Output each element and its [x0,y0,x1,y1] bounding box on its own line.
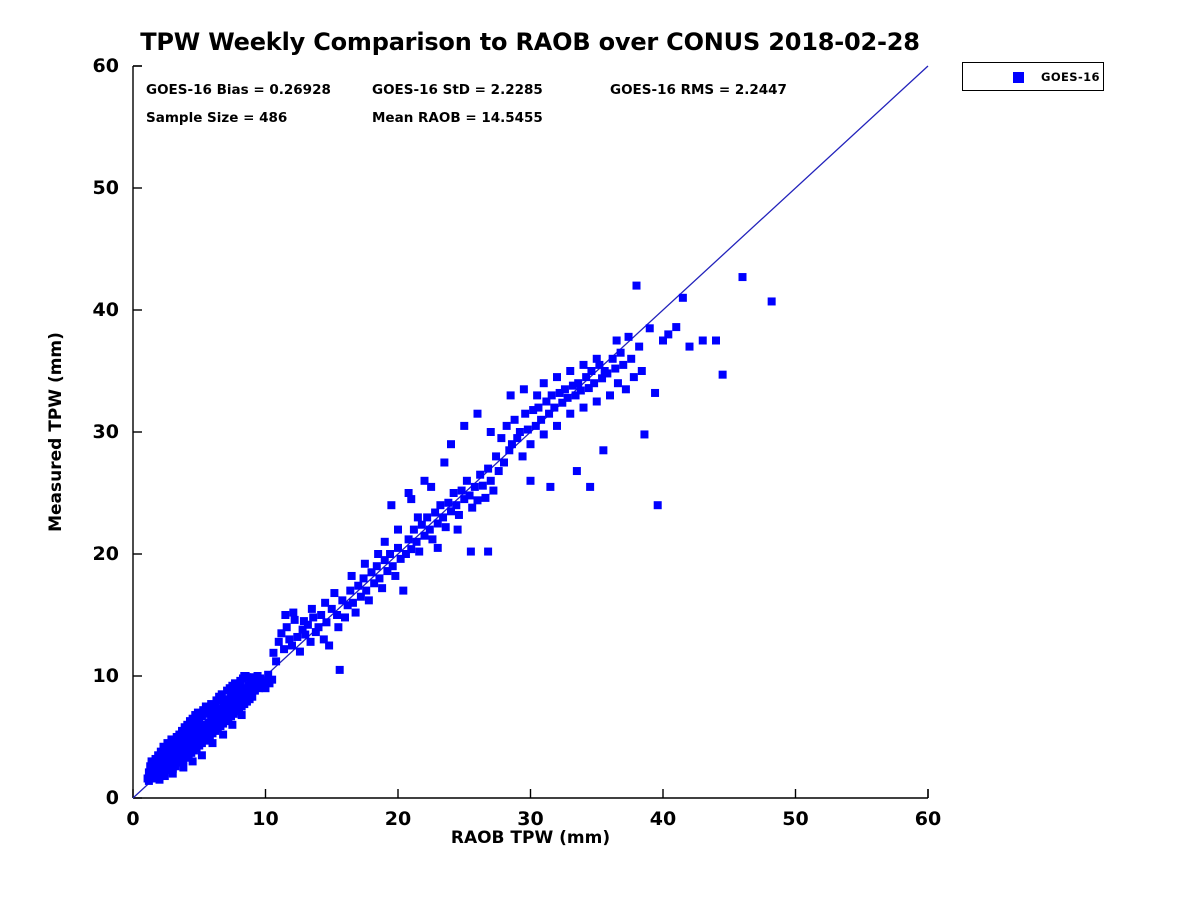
x-tick-label: 30 [517,808,543,830]
legend-marker-icon [1013,72,1024,83]
x-axis-label: RAOB TPW (mm) [133,828,928,848]
legend-label: GOES-16 [1041,70,1100,84]
legend: GOES-16 [962,62,1104,91]
x-tick-label: 60 [915,808,941,830]
y-tick-label: 0 [57,787,119,809]
y-tick-label: 30 [57,421,119,443]
y-tick-label: 60 [57,55,119,77]
y-tick-label: 20 [57,543,119,565]
x-tick-label: 20 [385,808,411,830]
x-tick-label: 0 [126,808,139,830]
x-tick-label: 40 [650,808,676,830]
plot-canvas [0,0,1200,900]
y-tick-label: 50 [57,177,119,199]
scatter-points [144,273,776,785]
y-tick-label: 10 [57,665,119,687]
y-tick-label: 40 [57,299,119,321]
x-tick-label: 50 [782,808,808,830]
x-tick-label: 10 [252,808,278,830]
chart-figure: TPW Weekly Comparison to RAOB over CONUS… [0,0,1200,900]
y-axis-label: Measured TPW (mm) [46,312,66,552]
